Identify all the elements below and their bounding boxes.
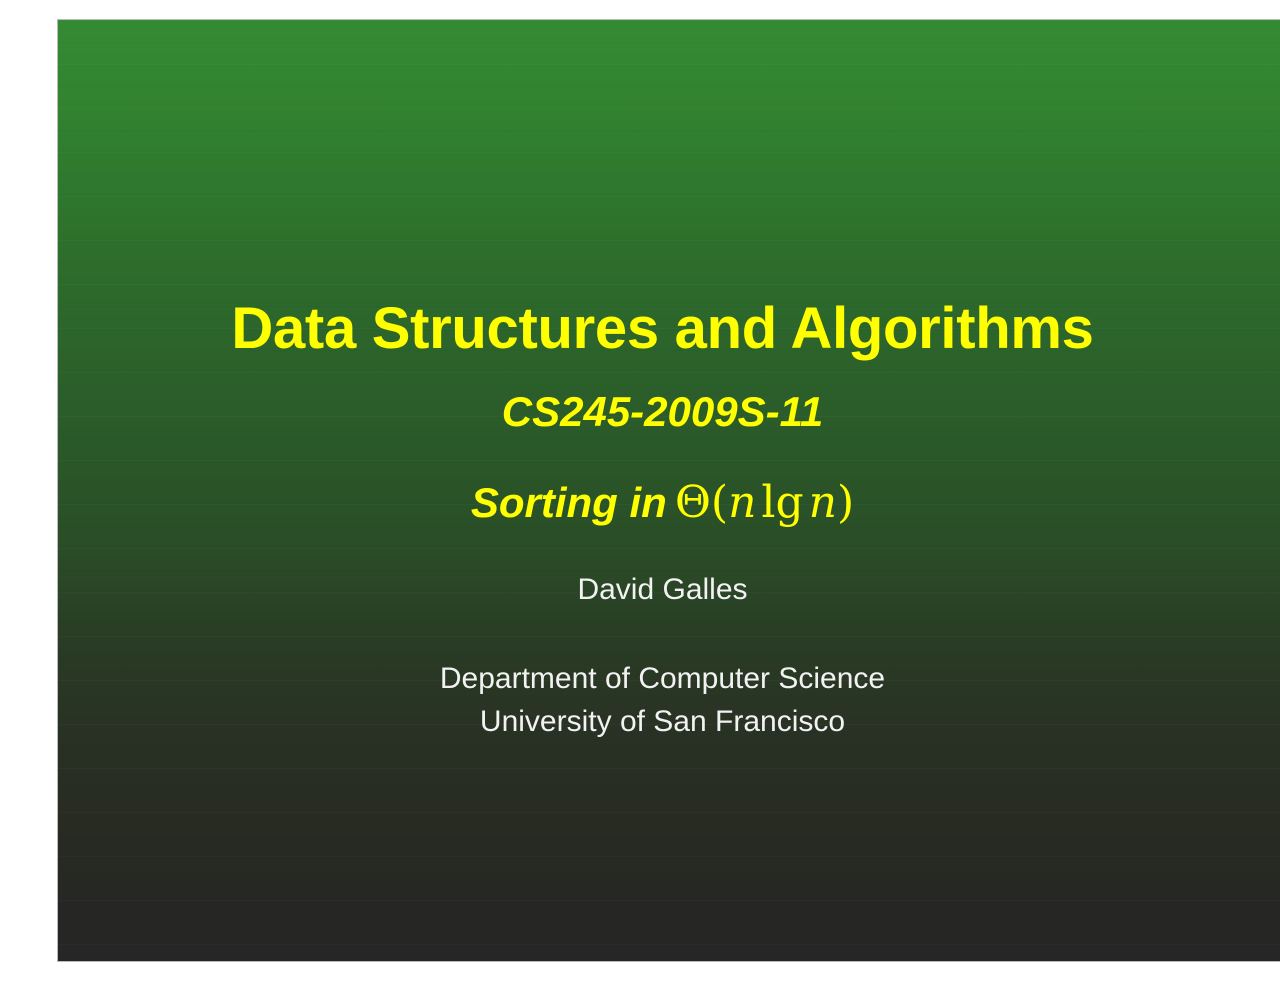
lg-operator: lg <box>761 477 803 528</box>
topic-prefix-text: Sorting in <box>471 479 667 526</box>
author-name: David Galles <box>58 572 1267 608</box>
affiliation-block: Department of Computer Science Universit… <box>58 657 1267 743</box>
course-code-subtitle: CS245-2009S-11 <box>58 388 1267 436</box>
page-title: Data Structures and Algorithms <box>58 298 1267 360</box>
presentation-slide: Data Structures and Algorithms CS245-200… <box>57 19 1280 962</box>
complexity-formula: Θ(nlgn) <box>675 477 854 528</box>
theta-symbol: Θ <box>675 477 711 528</box>
affiliation-institution: University of San Francisco <box>58 700 1267 743</box>
topic-line: Sorting inΘ(nlgn) <box>58 475 1267 541</box>
affiliation-department: Department of Computer Science <box>58 657 1267 700</box>
close-paren: ) <box>837 477 854 528</box>
variable-n-second: n <box>809 477 837 528</box>
open-paren: ( <box>711 477 728 528</box>
variable-n: n <box>728 477 756 528</box>
